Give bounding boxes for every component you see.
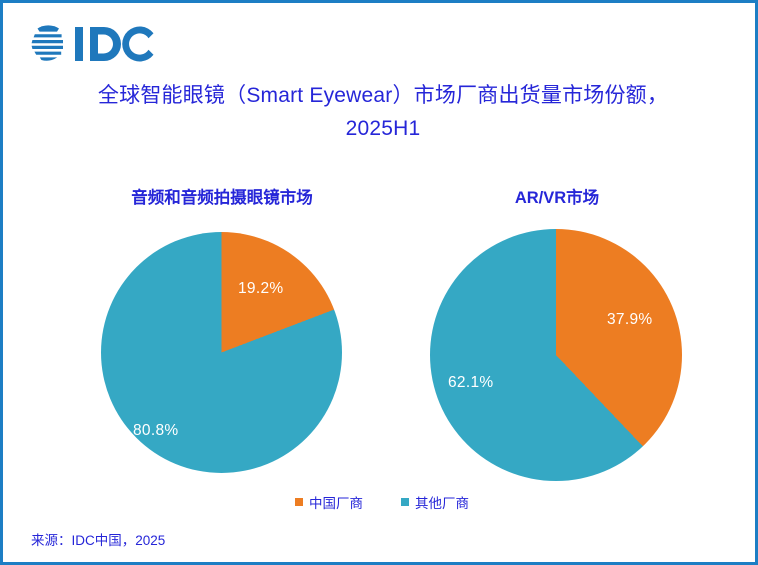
legend-swatch-other-icon [401, 498, 409, 506]
pie-slice-label-arvr-other: 62.1% [448, 374, 493, 392]
legend-item-china[interactable]: 中国厂商 [295, 492, 363, 512]
pie-slice-label-audio-china: 19.2% [238, 280, 283, 298]
pie-slice-label-arvr-china: 37.9% [607, 311, 652, 329]
idc-logo-icon [23, 19, 193, 69]
chart-subtitle-arvr: AR/VR市场 [435, 184, 679, 208]
legend-item-other[interactable]: 其他厂商 [401, 492, 469, 512]
legend-label-other: 其他厂商 [415, 492, 469, 512]
pie-chart-audio: 19.2% 80.8% [101, 232, 342, 473]
page-title-line2: 2025H1 [346, 117, 421, 140]
pie-chart-arvr-graphic [430, 229, 682, 481]
chart-legend: 中国厂商 其他厂商 [3, 492, 758, 512]
page-title-line1: 全球智能眼镜（Smart Eyewear）市场厂商出货量市场份额， [98, 84, 668, 107]
source-note: 来源：IDC中国，2025 [31, 529, 165, 549]
chart-subtitle-audio: 音频和音频拍摄眼镜市场 [91, 184, 353, 208]
slide-canvas: 全球智能眼镜（Smart Eyewear）市场厂商出货量市场份额， 2025H1… [0, 0, 758, 565]
pie-chart-arvr: 37.9% 62.1% [430, 229, 682, 481]
legend-swatch-china-icon [295, 498, 303, 506]
idc-logo [23, 19, 193, 69]
pie-slice-label-audio-other: 80.8% [133, 422, 178, 440]
legend-label-china: 中国厂商 [309, 492, 363, 512]
page-title: 全球智能眼镜（Smart Eyewear）市场厂商出货量市场份额， 2025H1 [48, 79, 718, 145]
